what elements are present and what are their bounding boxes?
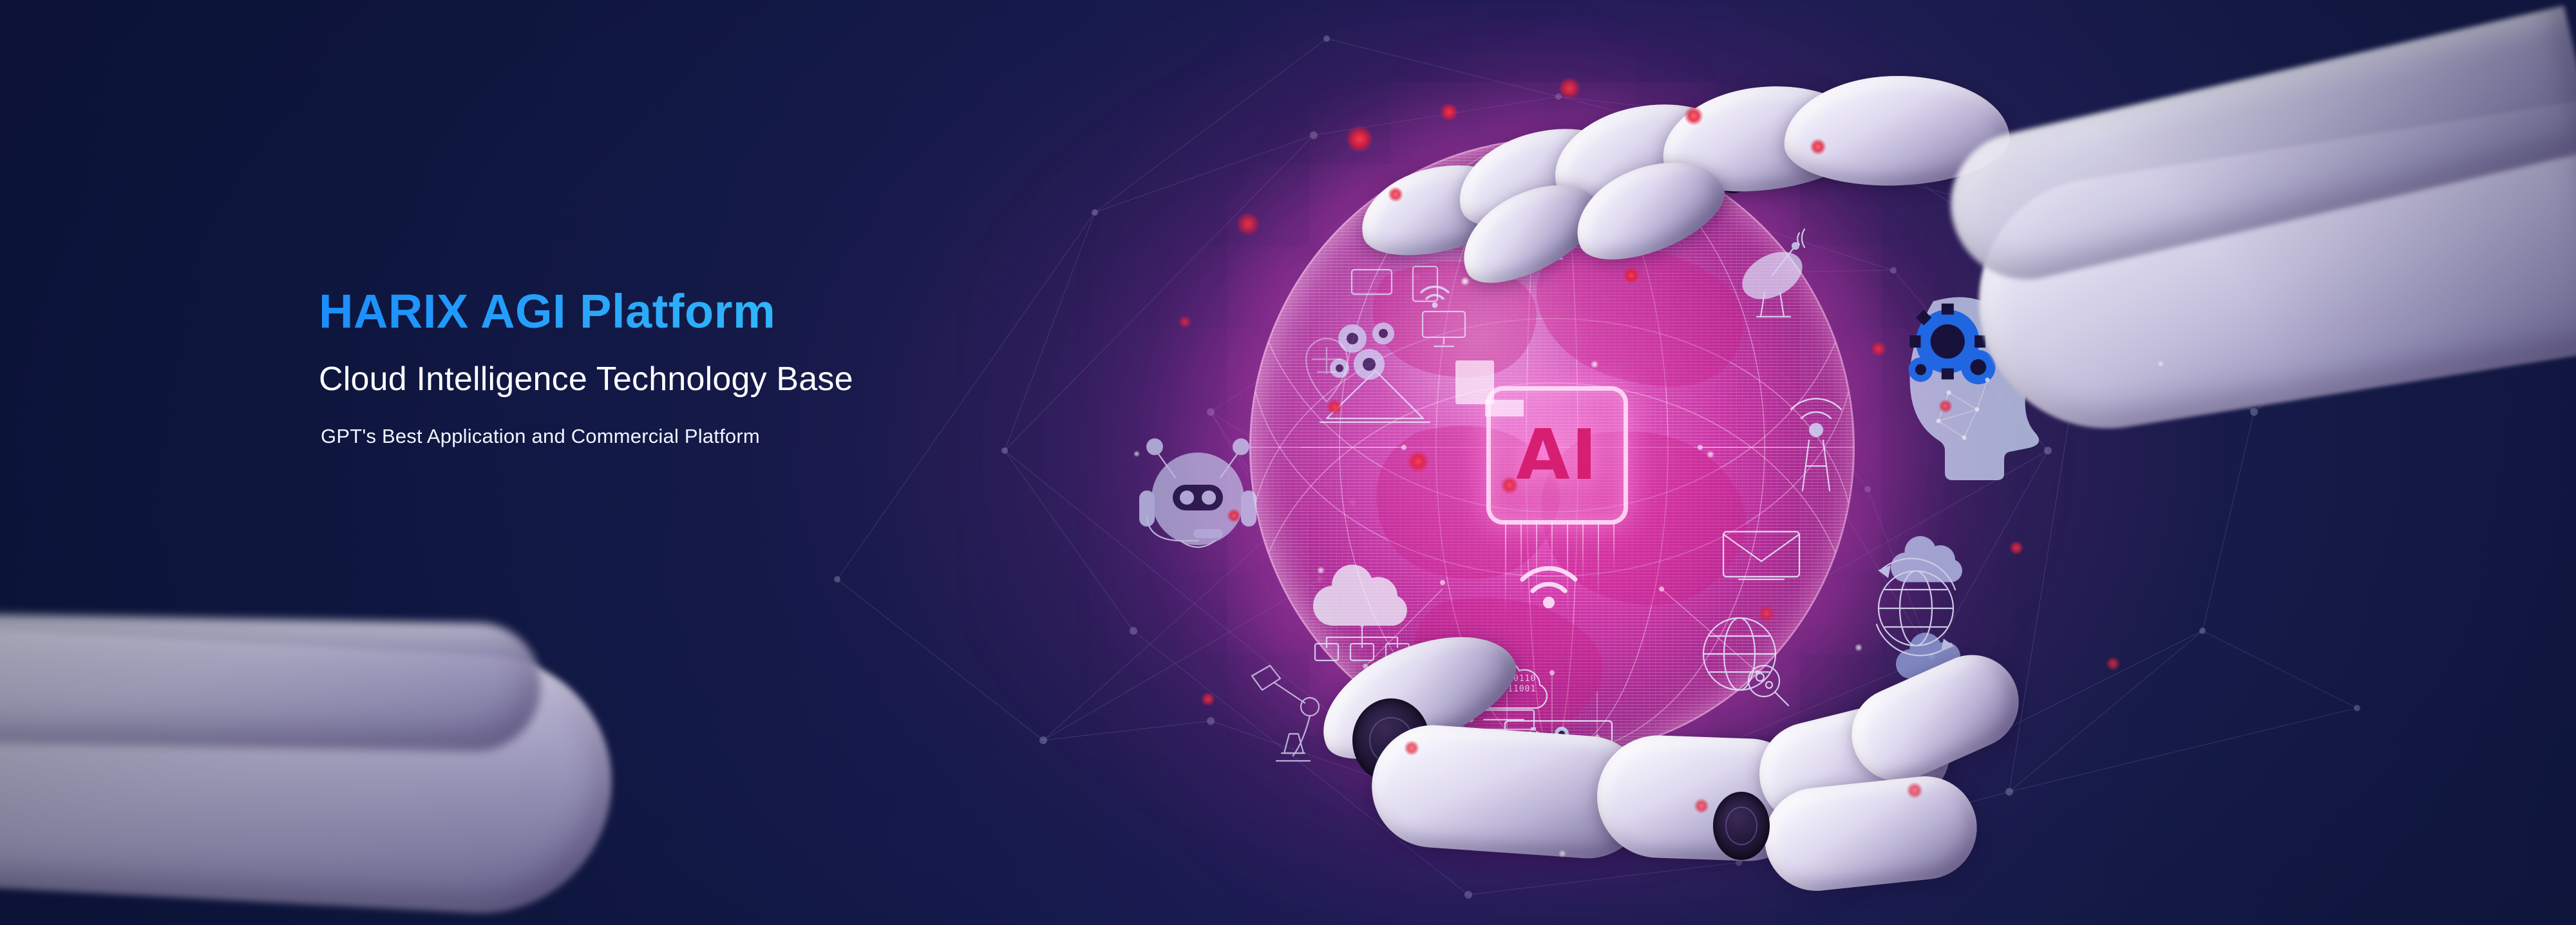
page-subtitle: Cloud Intelligence Technology Base <box>319 361 1285 398</box>
hero-copy-block: HARIX AGI Platform Cloud Intelligence Te… <box>319 286 1285 448</box>
ai-chip-badge: AI <box>1486 386 1628 525</box>
robot-forearm-left-upper <box>0 612 542 752</box>
chip-circuit-legs <box>1501 520 1624 617</box>
ai-badge-label: AI <box>1516 421 1598 491</box>
hero-banner: AI <box>0 0 2576 925</box>
page-tagline: GPT's Best Application and Commercial Pl… <box>321 424 1285 448</box>
chip-notch <box>1485 400 1524 416</box>
robot-hand-bottom <box>1314 634 1990 917</box>
page-title: HARIX AGI Platform <box>319 286 1285 337</box>
